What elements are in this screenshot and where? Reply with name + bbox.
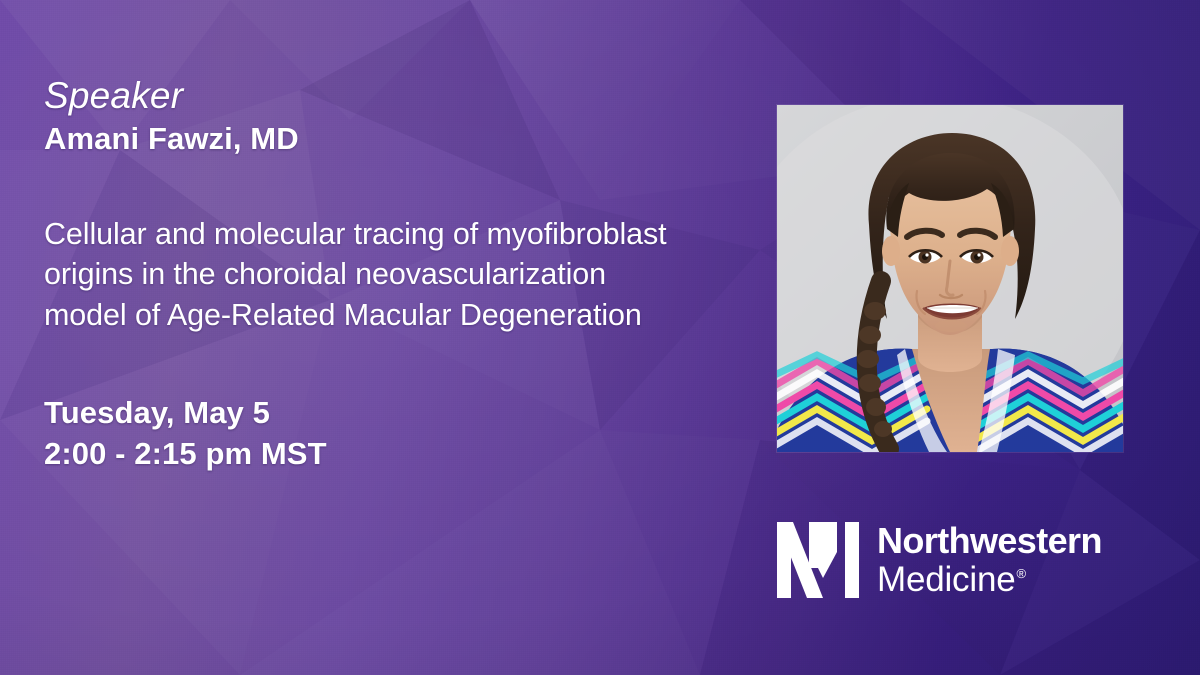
speaker-name: Amani Fawzi, MD [44,122,704,157]
portrait-illustration [777,105,1123,452]
nm-monogram-icon [777,522,859,598]
schedule-time: 2:00 - 2:15 pm MST [44,436,327,471]
speaker-announcement-slide: Speaker Amani Fawzi, MD Cellular and mol… [0,0,1200,675]
talk-title: Cellular and molecular tracing of myofib… [44,214,669,336]
northwestern-medicine-logo: Northwestern Medicine® [777,522,1102,599]
registered-trademark-icon: ® [1016,566,1025,581]
schedule-block: Tuesday, May 5 2:00 - 2:15 pm MST [44,393,704,474]
nm-wordmark-medicine-text: Medicine [877,560,1015,599]
schedule-date: Tuesday, May 5 [44,395,270,430]
speaker-label: Speaker [44,76,704,116]
speaker-portrait-photo [777,105,1123,452]
nm-wordmark-northwestern: Northwestern [877,523,1102,559]
nm-wordmark-medicine: Medicine® [877,562,1026,599]
nm-wordmark: Northwestern Medicine® [877,522,1102,599]
speaker-info-block: Speaker Amani Fawzi, MD Cellular and mol… [44,76,704,474]
